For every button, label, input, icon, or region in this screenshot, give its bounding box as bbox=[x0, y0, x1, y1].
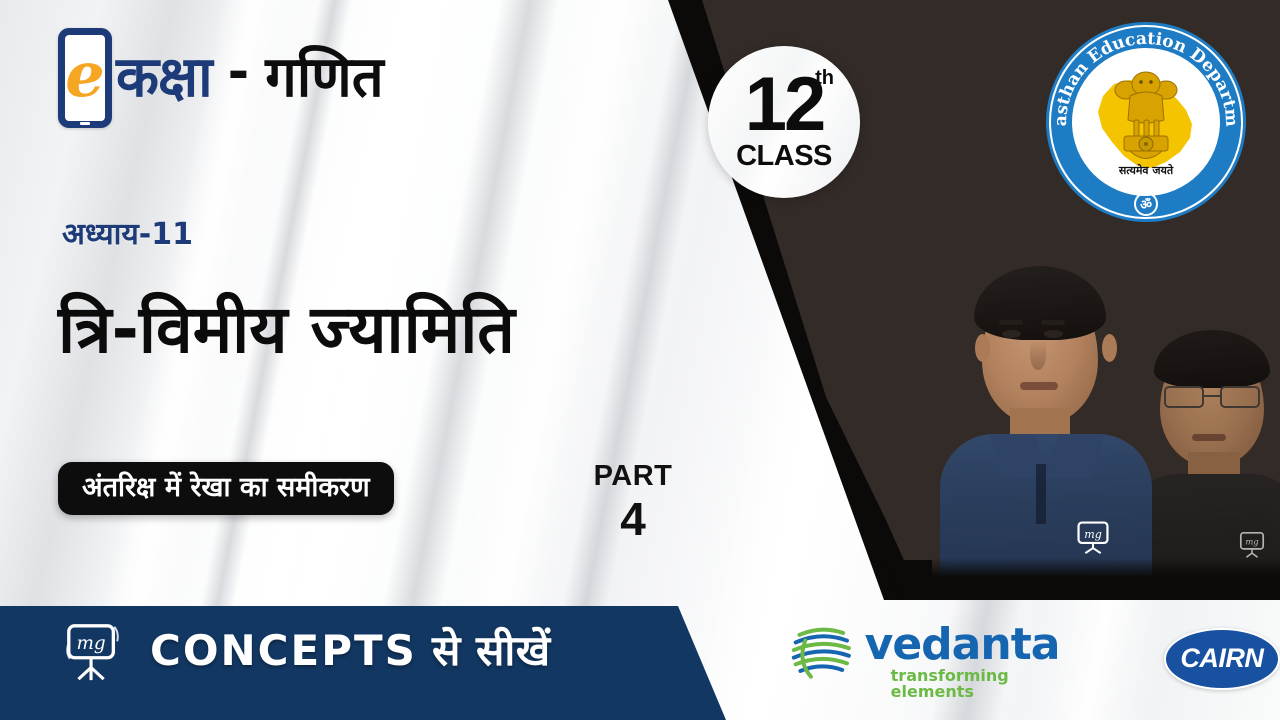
part-label: PART bbox=[578, 462, 688, 491]
brand-subject: गणित bbox=[265, 50, 383, 106]
thumbnail-canvas: mg mg bbox=[0, 0, 1280, 720]
mg-easel-board-icon: mg bbox=[1076, 520, 1110, 554]
mg-easel-board-icon: mg bbox=[1238, 530, 1266, 558]
chapter-label: अध्याय-11 bbox=[62, 212, 193, 253]
vedanta-wordmark: vedanta transforming elements bbox=[865, 618, 1086, 700]
page-title: त्रि-विमीय ज्यामिति bbox=[58, 292, 515, 368]
eyebrow-left bbox=[999, 320, 1023, 325]
part-indicator: PART 4 bbox=[578, 462, 688, 545]
eye-left bbox=[1002, 330, 1021, 338]
mg-logo-text: mg bbox=[76, 633, 105, 654]
vedanta-logo[interactable]: vedanta transforming elements bbox=[790, 618, 1086, 700]
footer-tagline-hi: से सीखें bbox=[432, 626, 551, 675]
class-badge: 12 th CLASS bbox=[708, 46, 860, 198]
hair bbox=[974, 266, 1106, 340]
mouth bbox=[1192, 434, 1226, 441]
cairn-logo[interactable]: CAIRN bbox=[1164, 628, 1280, 690]
brand-lockup[interactable]: e कक्षा - गणित bbox=[58, 28, 384, 128]
brand-dash: - bbox=[228, 46, 250, 98]
lens-right bbox=[1220, 386, 1260, 408]
instructor-portrait-back: mg bbox=[1130, 334, 1280, 584]
mg-easel-board-icon: mg bbox=[62, 620, 124, 682]
class-ordinal-suffix: th bbox=[815, 68, 834, 88]
hair bbox=[1154, 330, 1270, 388]
vedanta-tagline: transforming elements bbox=[891, 668, 1086, 700]
part-number: 4 bbox=[578, 494, 688, 545]
vedanta-name: vedanta bbox=[865, 624, 1086, 666]
sponsor-logos: vedanta transforming elements CAIRN bbox=[790, 618, 1280, 700]
ear-right bbox=[1102, 334, 1117, 362]
glasses-bridge bbox=[1204, 395, 1220, 397]
phone-speaker bbox=[75, 30, 95, 33]
svg-text:mg: mg bbox=[1245, 537, 1258, 547]
ear-left bbox=[975, 334, 990, 362]
eyebrow-right bbox=[1041, 320, 1065, 325]
instructor-portrait-front: mg bbox=[940, 268, 1152, 584]
topic-badge: अंतरिक्ष में रेखा का समीकरण bbox=[58, 462, 394, 515]
mouth bbox=[1020, 382, 1058, 390]
brand-letter-e: e bbox=[65, 35, 105, 121]
phone-camera bbox=[95, 31, 98, 34]
nose bbox=[1030, 340, 1046, 370]
class-number: 12 bbox=[708, 67, 860, 143]
rajasthan-education-department-seal: Rajasthan Education Department bbox=[1040, 16, 1252, 228]
class-word: CLASS bbox=[708, 142, 860, 171]
shirt-placket bbox=[1036, 464, 1046, 524]
brand-word-kaksha: कक्षा bbox=[116, 50, 212, 106]
photo-bottom-fade bbox=[932, 558, 1280, 584]
footer-content: mg CONCEPTS से सीखें bbox=[62, 620, 551, 682]
smartphone-icon: e bbox=[58, 28, 112, 128]
footer-tagline: CONCEPTS से सीखें bbox=[150, 630, 551, 672]
eye-right bbox=[1044, 330, 1063, 338]
phone-home-button bbox=[79, 121, 91, 126]
svg-text:ॐ: ॐ bbox=[1140, 197, 1152, 213]
eyeglasses-icon bbox=[1154, 386, 1270, 408]
footer-tagline-en: CONCEPTS bbox=[150, 626, 417, 675]
svg-text:mg: mg bbox=[1084, 528, 1102, 541]
lens-left bbox=[1164, 386, 1204, 408]
cairn-name: CAIRN bbox=[1180, 643, 1263, 674]
vedanta-globe-icon bbox=[790, 618, 853, 684]
seal-motto: सत्यमेव जयते bbox=[1118, 163, 1174, 177]
instructor-photo-group: mg mg bbox=[932, 236, 1280, 584]
